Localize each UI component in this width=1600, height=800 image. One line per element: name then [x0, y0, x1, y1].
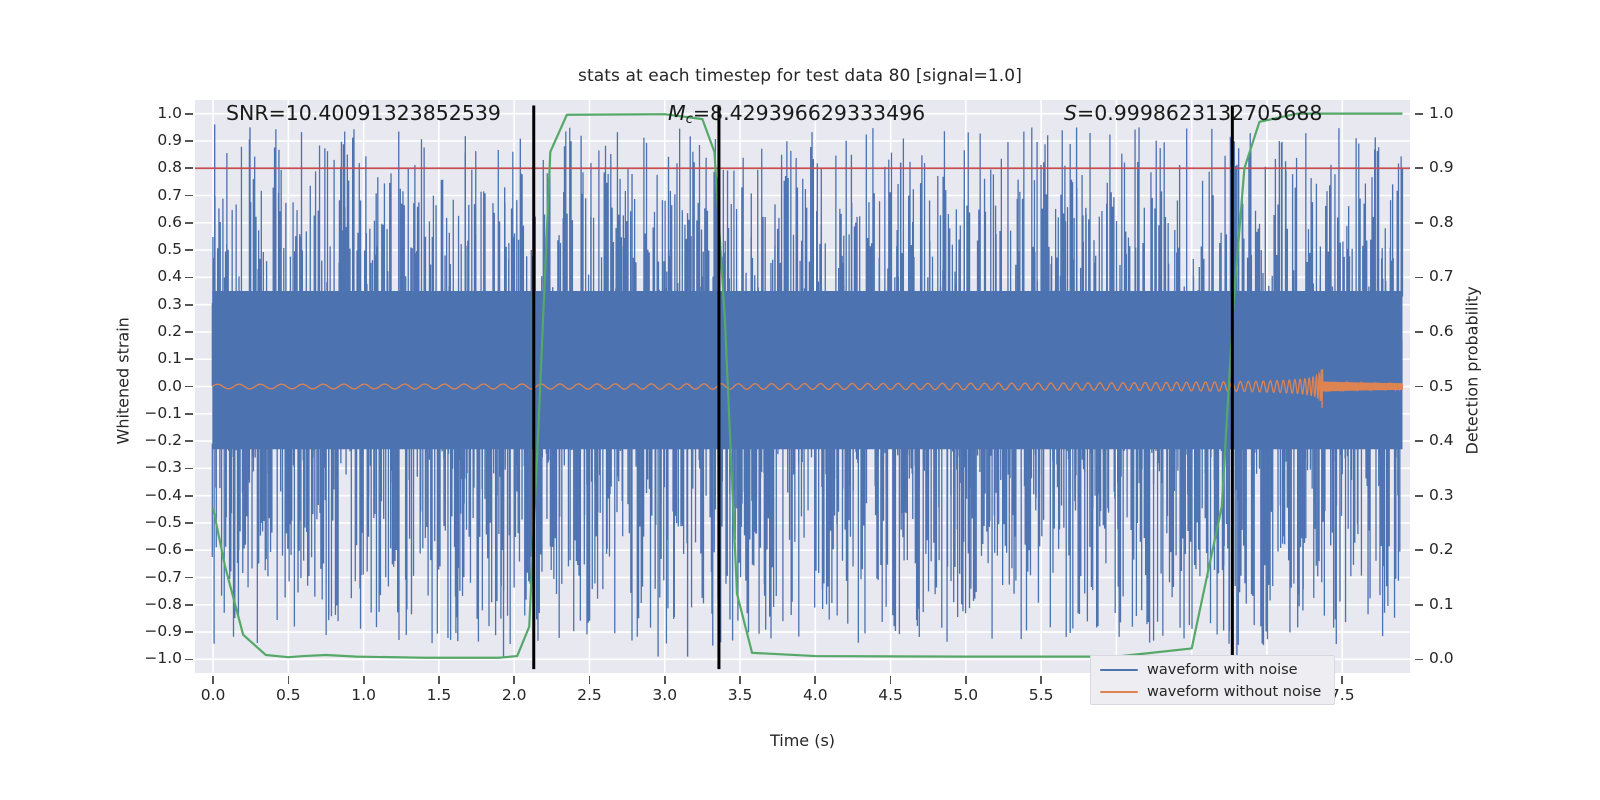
- xtick-mark-1: [288, 676, 290, 684]
- ytick-left-10: 0.0: [157, 377, 182, 395]
- ytick-right-mark-8: [1415, 549, 1423, 551]
- ytick-right-9: 0.1: [1429, 595, 1454, 613]
- x-axis-label: Time (s): [195, 731, 1410, 750]
- ytick-right-1: 0.9: [1429, 158, 1454, 176]
- ytick-left-5: 0.5: [157, 240, 182, 258]
- ytick-right-5: 0.5: [1429, 377, 1454, 395]
- ytick-left-mark-20: [185, 659, 193, 661]
- xtick-mark-9: [890, 676, 892, 684]
- xtick-4: 2.0: [497, 686, 531, 704]
- legend-swatch-signal: [1100, 691, 1138, 694]
- ytick-left-13: −0.3: [144, 458, 182, 476]
- ytick-left-1: 0.9: [157, 131, 182, 149]
- legend-swatch-noise: [1100, 669, 1138, 672]
- ytick-left-mark-5: [185, 249, 193, 251]
- ytick-left-mark-14: [185, 495, 193, 497]
- xtick-3: 1.5: [422, 686, 456, 704]
- annotation-chirp-mass: Mc=8.429396629333496: [668, 101, 925, 127]
- ytick-left-18: −0.8: [144, 595, 182, 613]
- legend-label-noise: waveform with noise: [1147, 662, 1298, 678]
- ytick-left-mark-2: [185, 167, 193, 169]
- ytick-left-mark-16: [185, 549, 193, 551]
- ytick-left-mark-0: [185, 113, 193, 115]
- ytick-left-15: −0.5: [144, 513, 182, 531]
- ytick-right-mark-5: [1415, 386, 1423, 388]
- xtick-2: 1.0: [347, 686, 381, 704]
- legend-item-1: waveform without noise: [1100, 681, 1321, 703]
- ytick-left-mark-9: [185, 358, 193, 360]
- ytick-left-11: −0.1: [144, 404, 182, 422]
- xtick-9: 4.5: [874, 686, 908, 704]
- ytick-right-mark-6: [1415, 440, 1423, 442]
- ytick-left-8: 0.2: [157, 322, 182, 340]
- ytick-left-7: 0.3: [157, 295, 182, 313]
- xtick-mark-10: [965, 676, 967, 684]
- ytick-right-mark-4: [1415, 331, 1423, 333]
- xtick-mark-6: [664, 676, 666, 684]
- legend-item-0: waveform with noise: [1100, 659, 1298, 681]
- ytick-left-mark-1: [185, 140, 193, 142]
- plot-area: [195, 100, 1410, 673]
- ytick-right-mark-1: [1415, 167, 1423, 169]
- ytick-left-mark-13: [185, 468, 193, 470]
- xtick-mark-5: [589, 676, 591, 684]
- ytick-left-16: −0.6: [144, 540, 182, 558]
- xtick-6: 3.0: [648, 686, 682, 704]
- xtick-mark-2: [363, 676, 365, 684]
- ytick-right-3: 0.7: [1429, 267, 1454, 285]
- ytick-left-mark-19: [185, 631, 193, 633]
- ytick-left-4: 0.6: [157, 213, 182, 231]
- ytick-left-mark-8: [185, 331, 193, 333]
- ytick-left-mark-12: [185, 440, 193, 442]
- xtick-mark-15: [1341, 676, 1343, 684]
- xtick-mark-11: [1040, 676, 1042, 684]
- ytick-right-mark-2: [1415, 222, 1423, 224]
- ytick-right-7: 0.3: [1429, 486, 1454, 504]
- xtick-10: 5.0: [949, 686, 983, 704]
- ytick-left-mark-17: [185, 577, 193, 579]
- xtick-5: 2.5: [572, 686, 606, 704]
- ytick-left-17: −0.7: [144, 568, 182, 586]
- xtick-mark-7: [739, 676, 741, 684]
- ytick-right-mark-10: [1415, 659, 1423, 661]
- legend-label-signal: waveform without noise: [1147, 684, 1321, 700]
- chart-title: stats at each timestep for test data 80 …: [0, 66, 1600, 86]
- ytick-left-9: 0.1: [157, 349, 182, 367]
- legend-box: waveform with noise waveform without noi…: [1090, 655, 1335, 705]
- ytick-right-0: 1.0: [1429, 104, 1454, 122]
- ytick-right-mark-9: [1415, 604, 1423, 606]
- chart-root: stats at each timestep for test data 80 …: [0, 0, 1600, 800]
- xtick-mark-4: [513, 676, 515, 684]
- ytick-right-4: 0.6: [1429, 322, 1454, 340]
- ytick-right-mark-0: [1415, 113, 1423, 115]
- ytick-left-mark-18: [185, 604, 193, 606]
- xtick-1: 0.5: [271, 686, 305, 704]
- ytick-left-mark-7: [185, 304, 193, 306]
- ytick-left-mark-3: [185, 195, 193, 197]
- xtick-7: 3.5: [723, 686, 757, 704]
- xtick-8: 4.0: [798, 686, 832, 704]
- ytick-right-mark-7: [1415, 495, 1423, 497]
- ytick-right-10: 0.0: [1429, 649, 1454, 667]
- ytick-left-mark-4: [185, 222, 193, 224]
- plot-canvas: [195, 100, 1410, 673]
- ytick-left-12: −0.2: [144, 431, 182, 449]
- xtick-mark-0: [212, 676, 214, 684]
- ytick-left-19: −0.9: [144, 622, 182, 640]
- ytick-right-6: 0.4: [1429, 431, 1454, 449]
- ytick-left-2: 0.8: [157, 158, 182, 176]
- ytick-right-2: 0.8: [1429, 213, 1454, 231]
- xtick-mark-3: [438, 676, 440, 684]
- ytick-right-8: 0.2: [1429, 540, 1454, 558]
- ytick-left-mark-15: [185, 522, 193, 524]
- xtick-11: 5.5: [1024, 686, 1058, 704]
- ytick-left-mark-6: [185, 277, 193, 279]
- xtick-0: 0.0: [196, 686, 230, 704]
- ytick-left-mark-10: [185, 386, 193, 388]
- ytick-left-3: 0.7: [157, 186, 182, 204]
- ytick-left-mark-11: [185, 413, 193, 415]
- ytick-left-20: −1.0: [144, 649, 182, 667]
- y-axis-label-right: Detection probability: [1463, 314, 1482, 454]
- ytick-left-14: −0.4: [144, 486, 182, 504]
- ytick-left-6: 0.4: [157, 267, 182, 285]
- xtick-mark-8: [814, 676, 816, 684]
- ytick-left-0: 1.0: [157, 104, 182, 122]
- annotation-snr: SNR=10.40091323852539: [226, 101, 501, 125]
- ytick-right-mark-3: [1415, 277, 1423, 279]
- y-axis-label-left: Whitened strain: [114, 324, 133, 444]
- annotation-score: S=0.9998623132705688: [1064, 101, 1322, 125]
